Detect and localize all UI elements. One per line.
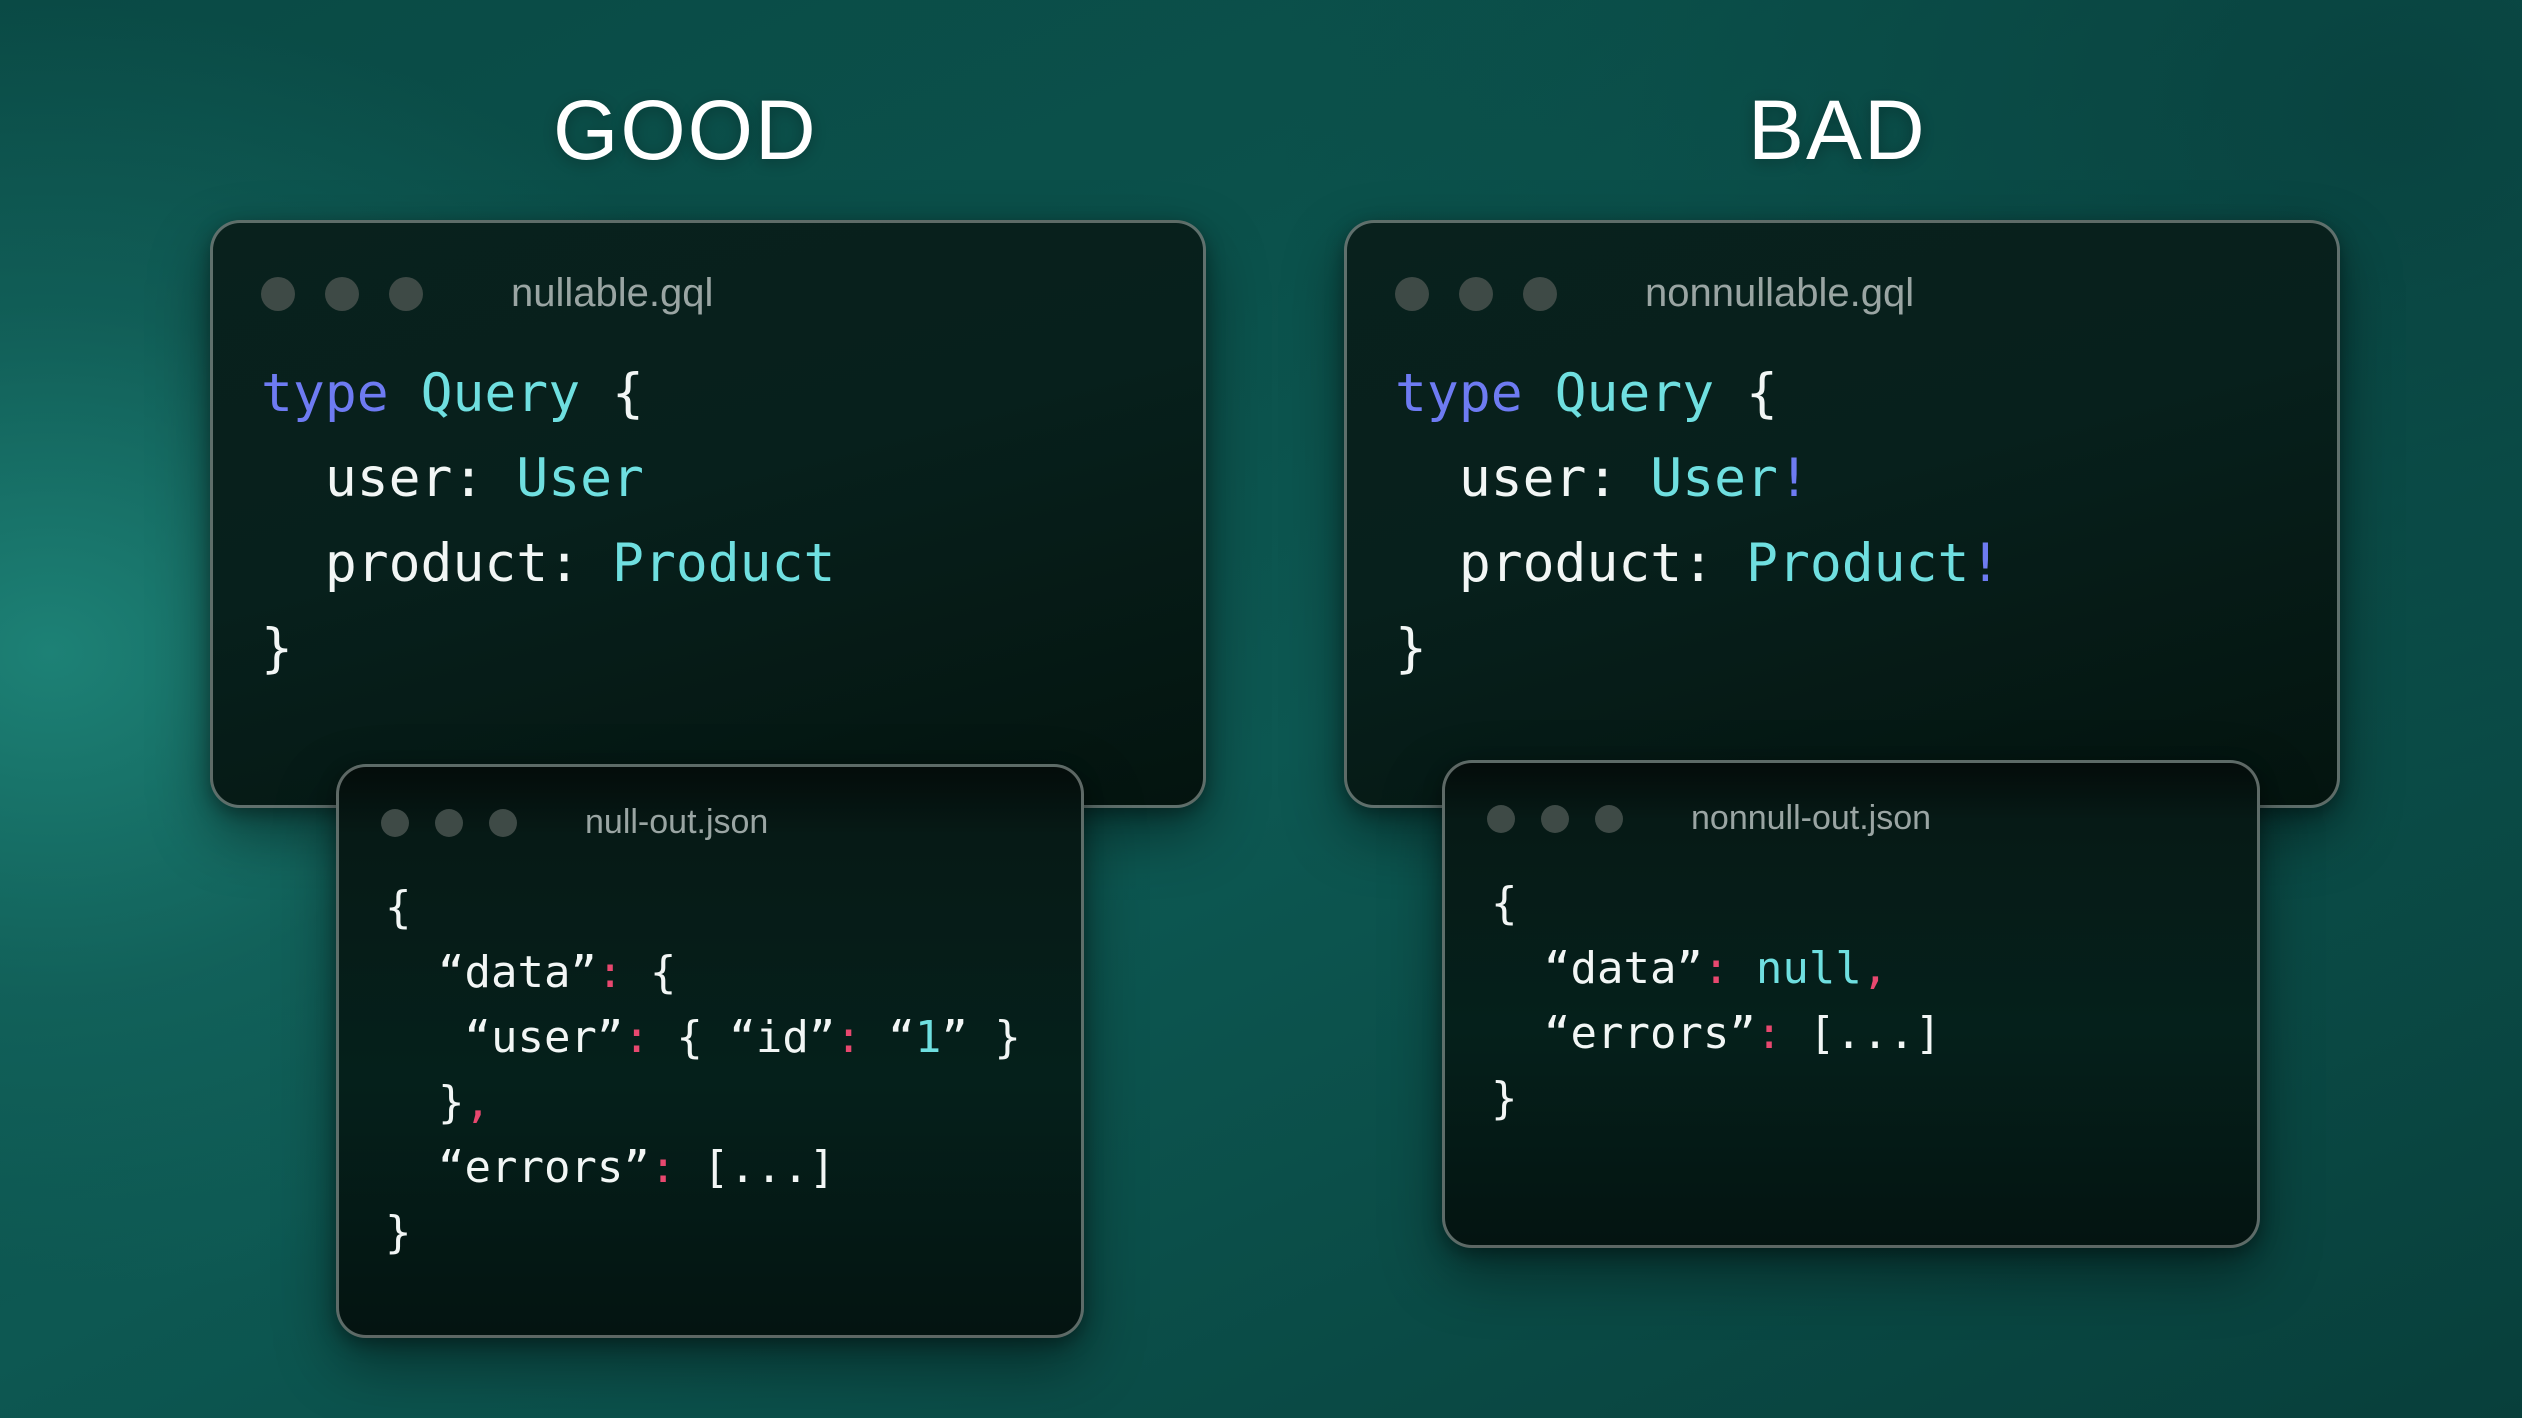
code-line: product: Product [261,521,835,606]
code-token: : [650,1142,677,1193]
code-token: : [623,1012,650,1063]
code-token: type [261,363,389,424]
code-token: ! [1778,448,1810,509]
code-token: [...] [1782,1008,1941,1059]
code-line: { [385,875,1021,940]
code-token: : [1756,1008,1783,1059]
code-token: { [623,947,676,998]
code-token: : [1703,943,1730,994]
traffic-lights [1487,805,1649,833]
close-icon[interactable] [1395,277,1429,311]
code-token [1714,533,1746,594]
code-token [580,363,612,424]
code-token: user [1395,448,1586,509]
code-token: [...] [676,1142,835,1193]
code-line: “data”: { [385,940,1021,1005]
code-token: “id” [729,1012,835,1063]
code-token: “data” [1491,943,1703,994]
window-nonnullable-gql[interactable]: nonnullable.gql type Query { user: User!… [1344,220,2340,808]
code-token: { [612,363,644,424]
code-token: “ [862,1012,915,1063]
code-token: “errors” [385,1142,650,1193]
maximize-icon[interactable] [389,277,423,311]
code-token: : [1682,533,1714,594]
code-token: : [597,947,624,998]
code-line: “errors”: [...] [1491,1001,1941,1066]
code-line: type Query { [1395,351,2001,436]
titlebar-nullable-gql: nullable.gql [213,271,1203,316]
close-icon[interactable] [381,809,409,837]
window-nonnull-out-json[interactable]: nonnull-out.json { “data”: null, “errors… [1442,760,2260,1248]
maximize-icon[interactable] [489,809,517,837]
maximize-icon[interactable] [1523,277,1557,311]
code-token: product [261,533,548,594]
code-token: , [1862,943,1889,994]
code-token [1729,943,1756,994]
code-token [484,448,516,509]
titlebar-null-out-json: null-out.json [339,803,1081,842]
code-block: type Query { user: User product: Product… [261,351,835,691]
code-block: { “data”: null, “errors”: [...]} [1491,871,1941,1131]
code-token: “errors” [1491,1008,1756,1059]
code-token: { [1746,363,1778,424]
code-token: ” } [941,1012,1020,1063]
code-line: “data”: null, [1491,936,1941,1001]
code-token: : [1586,448,1618,509]
minimize-icon[interactable] [435,809,463,837]
code-block: type Query { user: User! product: Produc… [1395,351,2001,691]
code-token [1618,448,1650,509]
code-line: } [1491,1066,1941,1131]
code-line: “user”: { “id”: “1” } [385,1005,1021,1070]
code-token: 1 [915,1012,942,1063]
code-token: { [650,1012,729,1063]
code-token: } [261,618,293,679]
code-line: } [385,1200,1021,1265]
code-token: “data” [385,947,597,998]
minimize-icon[interactable] [1459,277,1493,311]
code-token [389,363,421,424]
code-line: } [1395,606,2001,691]
traffic-lights [261,277,453,311]
code-token: Query [1555,363,1715,424]
bad-heading: BAD [1748,88,1927,172]
code-token: type [1395,363,1523,424]
traffic-lights [1395,277,1587,311]
code-token: : [452,448,484,509]
code-token: user [261,448,452,509]
code-line: }, [385,1070,1021,1135]
code-line: user: User [261,436,835,521]
code-token: : [548,533,580,594]
code-token: “user” [385,1012,623,1063]
code-token: ! [1969,533,2001,594]
code-line: type Query { [261,351,835,436]
window-title: null-out.json [585,803,768,842]
code-token: Product [1746,533,1969,594]
code-line: user: User! [1395,436,2001,521]
code-token: } [1491,1073,1518,1124]
code-line: product: Product! [1395,521,2001,606]
code-token: } [385,1077,464,1128]
titlebar-nonnullable-gql: nonnullable.gql [1347,271,2337,316]
close-icon[interactable] [261,277,295,311]
code-token [1714,363,1746,424]
code-line: { [1491,871,1941,936]
code-token: , [464,1077,491,1128]
window-title: nullable.gql [511,271,713,316]
window-title: nonnullable.gql [1645,271,1914,316]
code-token [580,533,612,594]
code-token: product [1395,533,1682,594]
window-null-out-json[interactable]: null-out.json { “data”: { “user”: { “id”… [336,764,1084,1338]
window-title: nonnull-out.json [1691,799,1931,838]
good-heading: GOOD [553,88,818,172]
code-line: “errors”: [...] [385,1135,1021,1200]
code-token: User [1650,448,1778,509]
maximize-icon[interactable] [1595,805,1623,833]
minimize-icon[interactable] [325,277,359,311]
code-token: } [385,1207,412,1258]
code-token: } [1395,618,1427,679]
code-line: } [261,606,835,691]
code-token [1523,363,1555,424]
code-token: null [1756,943,1862,994]
code-token: User [516,448,644,509]
window-nullable-gql[interactable]: nullable.gql type Query { user: User pro… [210,220,1206,808]
close-icon[interactable] [1487,805,1515,833]
code-token: : [835,1012,862,1063]
minimize-icon[interactable] [1541,805,1569,833]
code-block: { “data”: { “user”: { “id”: “1” } }, “er… [385,875,1021,1265]
comparison-canvas: GOOD BAD nullable.gql type Query { user:… [0,0,2522,1418]
code-token: { [1491,878,1518,929]
traffic-lights [381,809,543,837]
titlebar-nonnull-out-json: nonnull-out.json [1445,799,2257,838]
code-token: { [385,882,412,933]
code-token: Query [421,363,581,424]
code-token: Product [612,533,835,594]
